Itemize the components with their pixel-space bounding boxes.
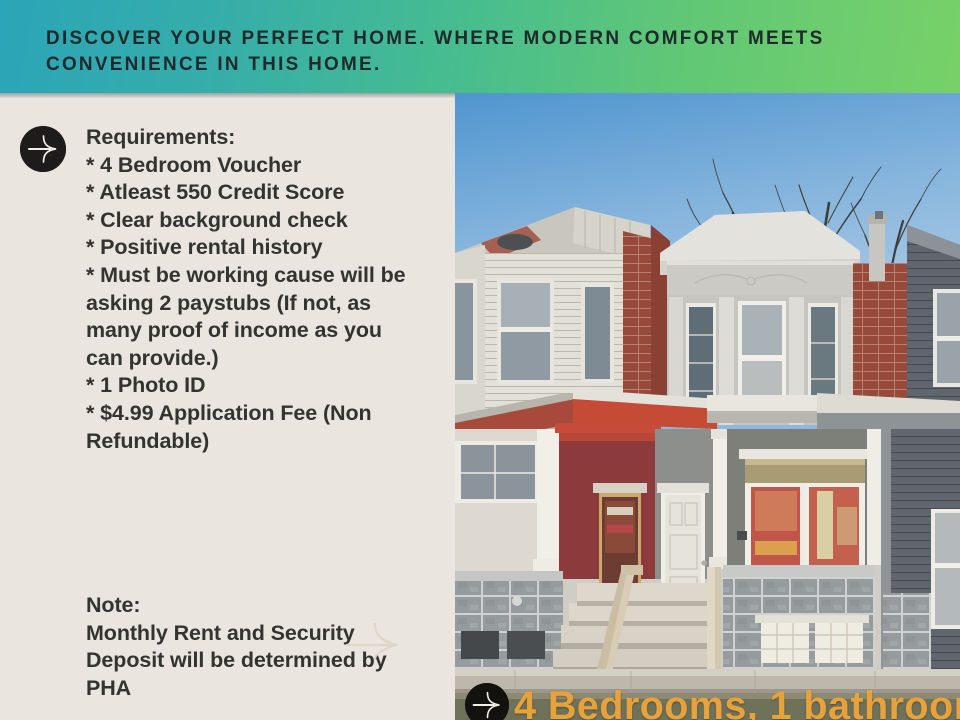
- headline-text: DISCOVER YOUR PERFECT HOME. WHERE MODERN…: [46, 25, 919, 77]
- requirements-text: Requirements: * 4 Bedroom Voucher * Atle…: [86, 124, 416, 455]
- arrow-right-outline-icon: [345, 618, 405, 660]
- photo-caption-text: 4 Bedrooms, 1 bathroom: [514, 686, 960, 720]
- arrow-right-icon: [20, 126, 66, 172]
- flyer-page: DISCOVER YOUR PERFECT HOME. WHERE MODERN…: [0, 0, 960, 720]
- row-house-exterior-photo: 5143: [455, 93, 960, 720]
- arrow-right-icon: [465, 683, 509, 720]
- header-banner: DISCOVER YOUR PERFECT HOME. WHERE MODERN…: [0, 0, 960, 93]
